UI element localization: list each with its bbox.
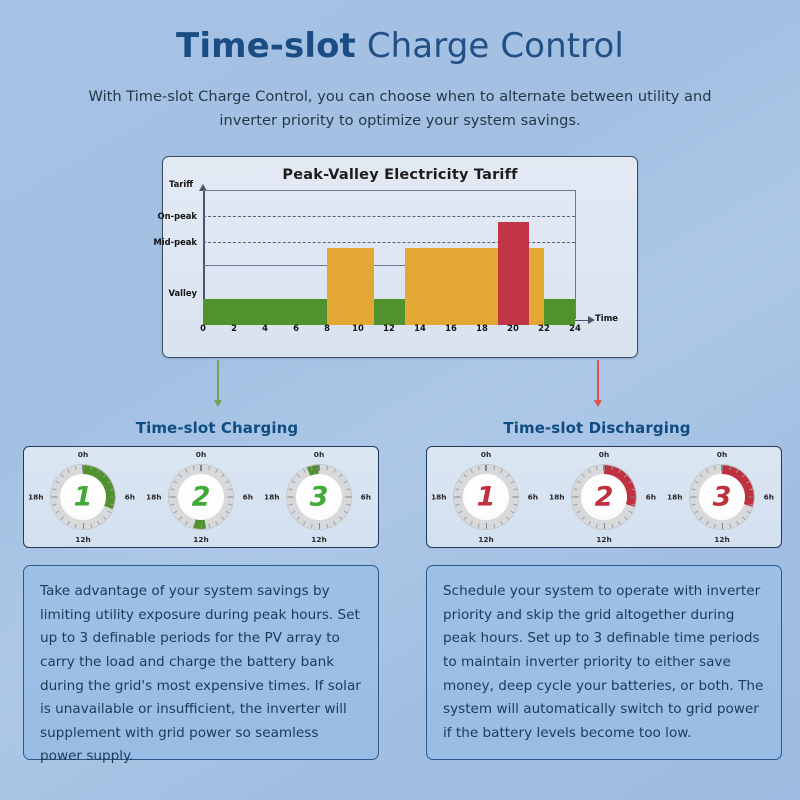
x-tick-label: 4 [262,323,268,333]
x-tick-label: 18 [476,323,488,333]
x-tick-label: 10 [352,323,364,333]
page-title-bold: Time-slot [176,26,356,66]
dial-hour-label-12h: 12h [596,535,612,544]
x-tick-label: 24 [569,323,581,333]
dial-hour-label-6h: 6h [361,493,371,502]
x-tick-label: 6 [293,323,299,333]
gridline [203,265,327,266]
y-tick-label: On-peak [158,211,197,221]
tariff-bar [374,299,405,325]
gridline [203,190,575,191]
dial-hour-label-12h: 12h [478,535,494,544]
gridline [203,216,575,217]
time-slot-dial-1[interactable]: 10h6h12h18h [40,454,126,540]
tariff-bar [498,222,529,325]
dial-hour-label-12h: 12h [75,535,91,544]
dial-hour-label-12h: 12h [311,535,327,544]
charging-connector-arrow [217,360,219,400]
dial-hour-label-12h: 12h [714,535,730,544]
time-slot-dial-3[interactable]: 30h6h12h18h [679,454,765,540]
dial-number: 3 [276,484,362,511]
dial-hour-label-0h: 0h [314,450,324,459]
page-title: Time-slot Charge Control [0,28,800,65]
tariff-bar [405,248,498,325]
charging-dial-panel: 10h6h12h18h20h6h12h18h30h6h12h18h [23,446,379,548]
x-tick-label: 20 [507,323,519,333]
charging-heading: Time-slot Charging [20,419,414,437]
x-axis-label: Time [595,313,618,323]
dial-hour-label-18h: 18h [667,493,683,502]
dial-hour-label-18h: 18h [28,493,44,502]
dial-number: 2 [561,484,647,511]
discharging-description-card: Schedule your system to operate with inv… [426,565,782,760]
dial-hour-label-6h: 6h [528,493,538,502]
dial-number: 3 [679,484,765,511]
dial-hour-label-0h: 0h [196,450,206,459]
page-title-rest: Charge Control [356,26,624,66]
x-tick-label: 16 [445,323,457,333]
y-tick-label: Valley [168,288,197,298]
time-slot-dial-2[interactable]: 20h6h12h18h [158,454,244,540]
discharging-dial-panel: 10h6h12h18h20h6h12h18h30h6h12h18h [426,446,782,548]
discharging-connector-arrow [597,360,599,400]
chart-title: Peak-Valley Electricity Tariff [163,167,637,183]
y-tick-label: Mid-peak [153,237,197,247]
tariff-bar [544,299,575,325]
x-tick-label: 22 [538,323,550,333]
dial-hour-label-6h: 6h [764,493,774,502]
tariff-bar [203,299,327,325]
chart-frame-right [575,190,576,319]
page-subtitle: With Time-slot Charge Control, you can c… [60,85,740,132]
dial-hour-label-0h: 0h [481,450,491,459]
charging-description-card: Take advantage of your system savings by… [23,565,379,760]
discharging-heading: Time-slot Discharging [400,419,794,437]
dial-hour-label-18h: 18h [264,493,280,502]
x-tick-label: 12 [383,323,395,333]
time-slot-dial-2[interactable]: 20h6h12h18h [561,454,647,540]
dial-hour-label-18h: 18h [146,493,162,502]
dial-hour-label-6h: 6h [646,493,656,502]
x-tick-label: 0 [200,323,206,333]
dial-hour-label-0h: 0h [717,450,727,459]
dial-hour-label-6h: 6h [243,493,253,502]
infographic-root: Time-slot Charge Control With Time-slot … [0,0,800,800]
chart-plot-area: Tariff Time On-peakMid-peakValley 024681… [203,190,601,325]
dial-number: 1 [40,484,126,511]
dial-number: 1 [443,484,529,511]
dial-hour-label-18h: 18h [431,493,447,502]
dial-hour-label-12h: 12h [193,535,209,544]
time-slot-dial-3[interactable]: 30h6h12h18h [276,454,362,540]
tariff-chart-panel: Peak-Valley Electricity Tariff Tariff Ti… [162,156,638,358]
x-tick-label: 2 [231,323,237,333]
x-tick-label: 14 [414,323,426,333]
dial-hour-label-6h: 6h [125,493,135,502]
y-axis-label: Tariff [169,179,193,189]
dial-hour-label-0h: 0h [599,450,609,459]
tariff-bar [529,248,545,325]
dial-hour-label-18h: 18h [549,493,565,502]
x-tick-label: 8 [324,323,330,333]
tariff-bar [327,248,374,325]
dial-hour-label-0h: 0h [78,450,88,459]
dial-number: 2 [158,484,244,511]
gridline [373,265,405,266]
time-slot-dial-1[interactable]: 10h6h12h18h [443,454,529,540]
